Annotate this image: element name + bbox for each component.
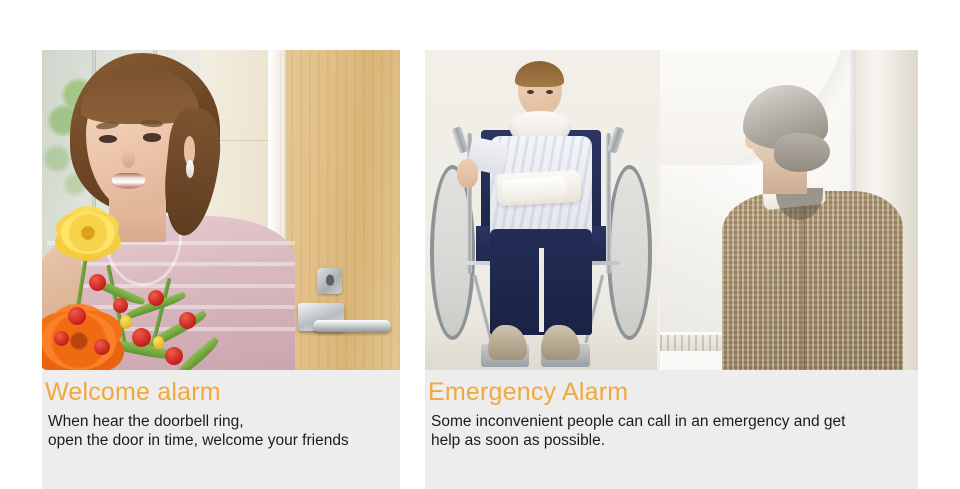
knit-cardigan (722, 191, 903, 370)
yellow-gerbera-flower (61, 212, 115, 254)
wheelchair-push-handle (607, 126, 624, 153)
boy-in-wheelchair-image (425, 50, 657, 370)
caption-line: Some inconvenient people can call in an … (431, 412, 912, 431)
feature-card-emergency: Emergency Alarm Some inconvenient people… (425, 50, 918, 489)
smiling-mouth (112, 173, 146, 187)
photo-row-emergency (425, 50, 918, 370)
boy-hand (457, 159, 478, 188)
caption-emergency: Emergency Alarm Some inconvenient people… (425, 370, 918, 489)
door-lock-icon (317, 268, 342, 294)
leg-gap (539, 248, 544, 331)
promo-banner: Welcome alarm When hear the doorbell rin… (0, 0, 960, 489)
caption-title-welcome: Welcome alarm (42, 370, 400, 407)
eye-right (546, 90, 553, 94)
caption-line: open the door in time, welcome your frie… (48, 431, 394, 450)
wheelchair-wheel-right (607, 165, 652, 339)
eye-right (143, 133, 162, 141)
feature-card-welcome: Welcome alarm When hear the doorbell rin… (42, 50, 400, 489)
caption-body-welcome: When hear the doorbell ring, open the do… (42, 407, 400, 450)
elderly-man-at-window-image (660, 50, 918, 370)
boy-hair (515, 61, 564, 87)
caption-line: help as soon as possible. (431, 431, 912, 450)
caption-line: When hear the doorbell ring, (48, 412, 394, 431)
caption-body-emergency: Some inconvenient people can call in an … (425, 407, 918, 450)
flower-bouquet (42, 242, 271, 370)
earring (186, 160, 194, 178)
photo-row-welcome (42, 50, 400, 370)
caption-welcome: Welcome alarm When hear the doorbell rin… (42, 370, 400, 489)
caption-title-emergency: Emergency Alarm (425, 370, 918, 407)
hair-nape (774, 133, 831, 171)
nose (122, 149, 135, 168)
woman-with-flowers-at-door-image (42, 50, 400, 370)
cardigan-seam (802, 204, 805, 370)
wheelchair-frame-bar (606, 133, 611, 274)
door-handle (313, 320, 391, 332)
